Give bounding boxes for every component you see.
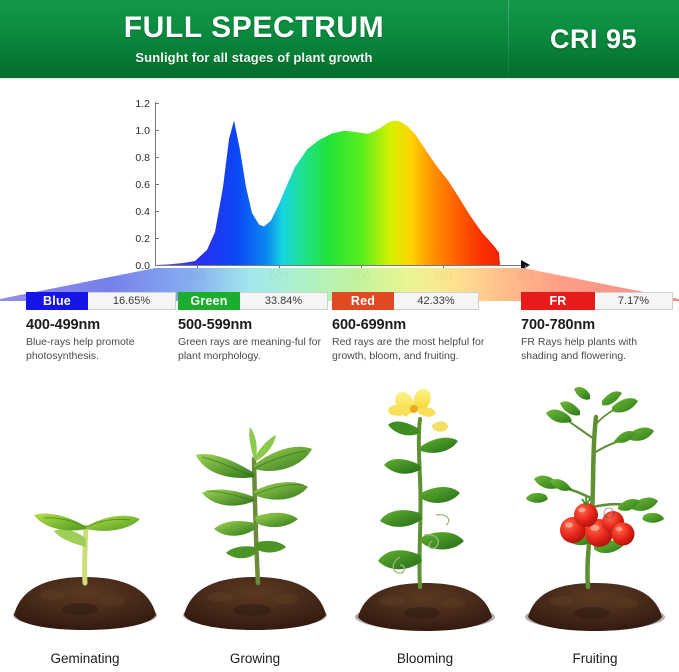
- legend-band-percent: 42.33%: [394, 292, 479, 310]
- legend-band-percent: 16.65%: [88, 292, 176, 310]
- growth-stage-fruiting: Fruiting: [510, 372, 679, 672]
- legend-band-name: Green: [178, 292, 240, 310]
- legend-band-description: Blue-rays help promote photosynthesis.: [26, 336, 176, 363]
- growth-stage-label: Geminating: [0, 651, 170, 666]
- seedling-sprout-icon: [0, 387, 170, 632]
- page-title: FULL SPECTRUM: [0, 11, 508, 45]
- legend-band-name: FR: [521, 292, 595, 310]
- growth-stage-growing: Growing: [170, 372, 340, 672]
- y-tick-label: 0.4: [118, 207, 150, 217]
- growth-stages: Geminating: [0, 372, 679, 672]
- header-left-section: FULL SPECTRUM Sunlight for all stages of…: [0, 0, 508, 78]
- legend-band-fr: FR 7.17% 700-780nm FR Rays help plants w…: [521, 292, 673, 363]
- legend-band-percent: 7.17%: [595, 292, 673, 310]
- legend-band-range: 700-780nm: [521, 317, 673, 333]
- y-tick-label: 1.2: [118, 99, 150, 109]
- growth-stage-geminating: Geminating: [0, 372, 170, 672]
- cri-badge: CRI 95: [508, 0, 679, 78]
- legend-badge-row: Green 33.84%: [178, 292, 328, 310]
- legend-band-blue: Blue 16.65% 400-499nm Blue-rays help pro…: [26, 292, 176, 363]
- legend-badge-row: Red 42.33%: [332, 292, 504, 310]
- growth-stage-label: Fruiting: [510, 651, 679, 666]
- legend-band-percent: 33.84%: [240, 292, 328, 310]
- legend-badge-row: FR 7.17%: [521, 292, 673, 310]
- legend-band-description: Red rays are the most helpful for growth…: [332, 336, 504, 363]
- growth-stage-label: Blooming: [340, 651, 510, 666]
- y-tick-label: 0.2: [118, 234, 150, 244]
- header-banner: FULL SPECTRUM Sunlight for all stages of…: [0, 0, 679, 78]
- legend-band-range: 500-599nm: [178, 317, 328, 333]
- legend-band-range: 400-499nm: [26, 317, 176, 333]
- leafy-plant-icon: [170, 387, 340, 632]
- y-tick-label: 0.8: [118, 153, 150, 163]
- legend-band-name: Blue: [26, 292, 88, 310]
- spectral-power-curve: [155, 102, 526, 266]
- y-tick-label: 1.0: [118, 126, 150, 136]
- legend-badge-row: Blue 16.65%: [26, 292, 176, 310]
- legend-band-green: Green 33.84% 500-599nm Green rays are me…: [178, 292, 328, 363]
- page-subtitle: Sunlight for all stages of plant growth: [0, 50, 508, 65]
- growth-stage-label: Growing: [170, 651, 340, 666]
- y-tick-label: 0.6: [118, 180, 150, 190]
- tomato-plant-icon: [510, 387, 679, 632]
- growth-stage-blooming: Blooming: [340, 372, 510, 672]
- legend-band-description: FR Rays help plants with shading and flo…: [521, 336, 673, 363]
- legend-band-name: Red: [332, 292, 394, 310]
- spectrum-legend: Blue 16.65% 400-499nm Blue-rays help pro…: [0, 292, 679, 370]
- legend-band-red: Red 42.33% 600-699nm Red rays are the mo…: [332, 292, 504, 363]
- spectrum-chart: 0.0 0.2 0.4 0.6 0.8 1.0 1.2: [0, 80, 679, 290]
- legend-band-range: 600-699nm: [332, 317, 504, 333]
- flowering-plant-icon: [340, 387, 510, 632]
- legend-band-description: Green rays are meaning-ful for plant mor…: [178, 336, 328, 363]
